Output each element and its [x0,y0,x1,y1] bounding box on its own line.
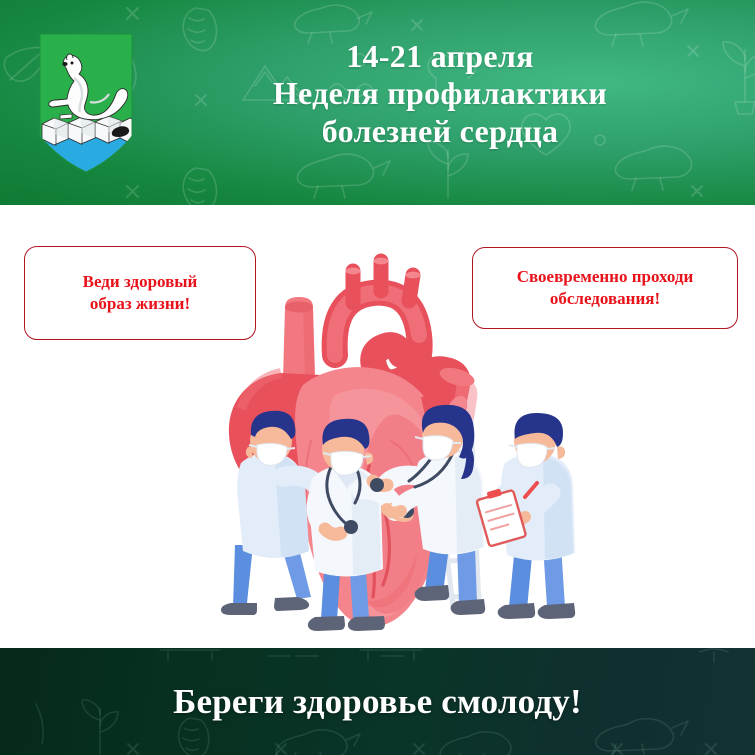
title-line-date: 14-21 апреля [170,38,710,75]
poster-title: 14-21 апреля Неделя профилактики болезне… [170,38,710,150]
callout-left-line-2: образ жизни! [83,293,198,315]
ermine-nose [62,62,67,66]
health-awareness-poster: 14-21 апреля Неделя профилактики болезне… [0,0,755,755]
stethoscope-chestpiece [344,520,358,534]
heart-illustration [185,245,605,645]
coat-of-arms-emblem [38,32,134,174]
figure-doctor-with-clipboard [475,413,575,619]
footer-slogan: Береги здоровье смолоду! [0,682,755,722]
callout-left-line-1: Веди здоровый [83,271,198,293]
ermine-eye [71,62,74,65]
stethoscope-chestpiece [370,478,384,492]
poster-body: Веди здоровый образ жизни! Своевременно … [0,205,755,648]
poster-header: 14-21 апреля Неделя профилактики болезне… [0,0,755,205]
poster-footer: Береги здоровье смолоду! [0,648,755,755]
coat-of-arms-svg [38,32,134,174]
title-line-2: Неделя профилактики [170,75,710,112]
title-line-3: болезней сердца [170,113,710,150]
